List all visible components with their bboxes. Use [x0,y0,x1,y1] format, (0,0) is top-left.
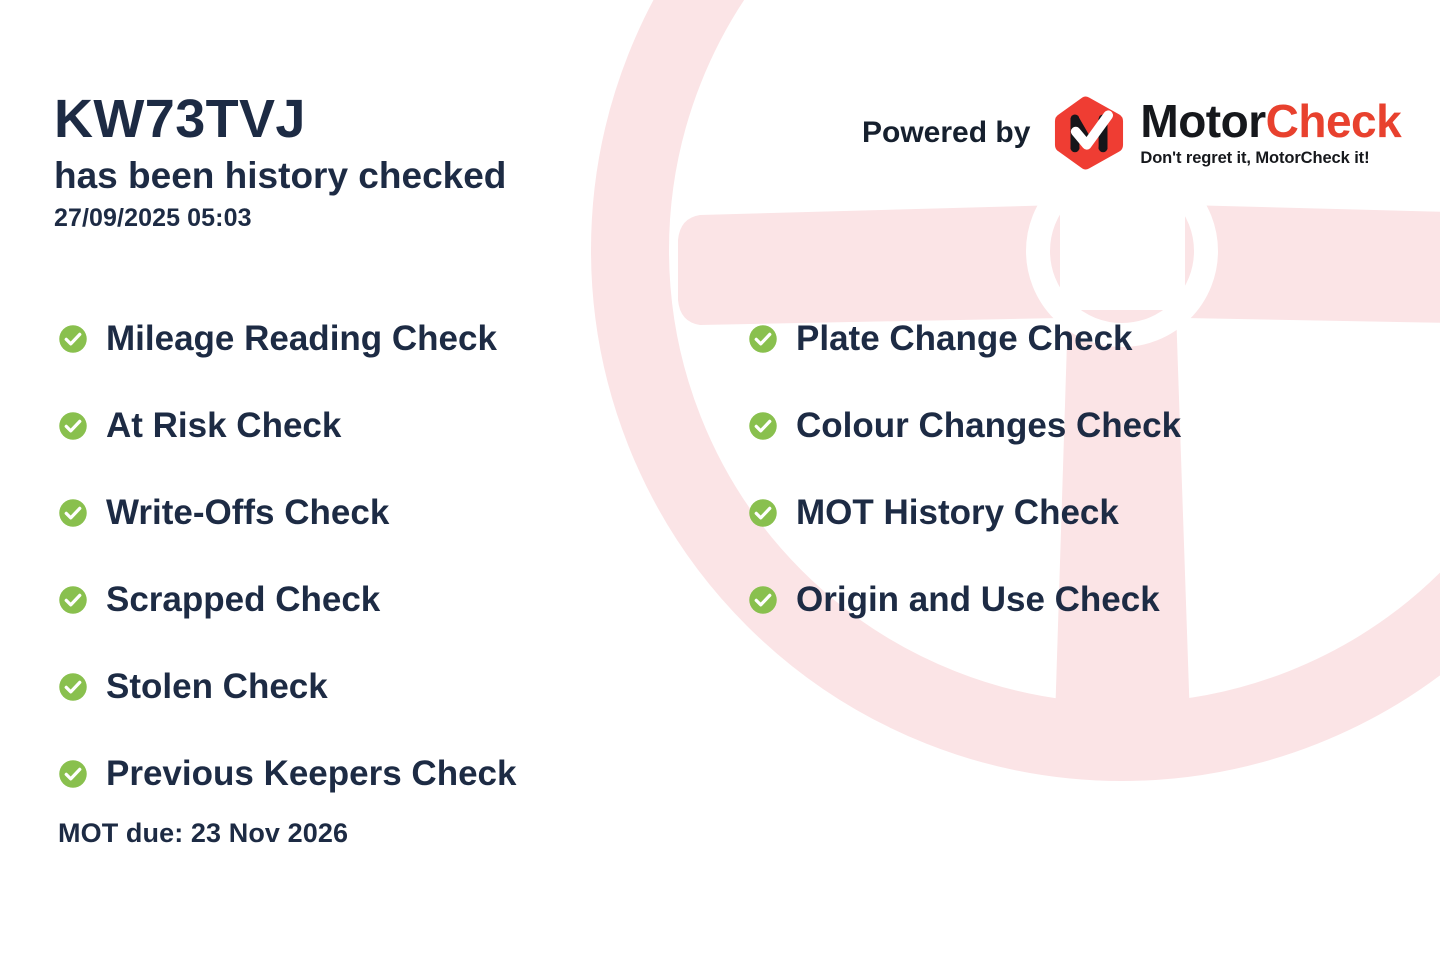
check-item: Previous Keepers Check [58,730,516,817]
check-item-label: MOT History Check [796,495,1119,530]
logo-word-check: Check [1266,95,1402,147]
check-list-right: Plate Change Check Colour Changes Check … [748,295,1181,643]
check-circle-icon [748,324,778,354]
header-block: KW73TVJ has been history checked 27/09/2… [54,92,694,233]
check-circle-icon [58,411,88,441]
check-circle-icon [748,411,778,441]
check-item-label: Stolen Check [106,669,328,704]
check-circle-icon [748,585,778,615]
page-title-registration: KW73TVJ [54,92,694,147]
check-item-label: Write-Offs Check [106,495,389,530]
check-item-label: Mileage Reading Check [106,321,497,356]
check-item-label: Scrapped Check [106,582,380,617]
check-item-label: Colour Changes Check [796,408,1181,443]
logo-tagline: Don't regret it, MotorCheck it! [1140,149,1401,168]
check-item: Origin and Use Check [748,556,1181,643]
check-item: Stolen Check [58,643,516,730]
check-circle-icon [58,585,88,615]
logo-wordmark: MotorCheck [1140,98,1401,144]
mot-due-text: MOT due: 23 Nov 2026 [58,818,348,849]
check-circle-icon [58,759,88,789]
check-circle-icon [58,324,88,354]
check-item: MOT History Check [748,469,1181,556]
check-item: Write-Offs Check [58,469,516,556]
hexagon-logo-icon [1052,96,1126,170]
check-item: Plate Change Check [748,295,1181,382]
check-item-label: Origin and Use Check [796,582,1160,617]
powered-by-label: Powered by [862,116,1030,150]
check-item: Scrapped Check [58,556,516,643]
check-item-label: At Risk Check [106,408,341,443]
check-list-left: Mileage Reading Check At Risk Check Writ… [58,295,516,817]
check-item: Mileage Reading Check [58,295,516,382]
check-item-label: Previous Keepers Check [106,756,516,791]
check-item: At Risk Check [58,382,516,469]
powered-by-block: Powered by MotorCheck Don't regret it, M… [862,96,1401,170]
motorcheck-logo[interactable]: MotorCheck Don't regret it, MotorCheck i… [1052,96,1401,170]
checked-timestamp: 27/09/2025 05:03 [54,204,694,233]
check-item-label: Plate Change Check [796,321,1133,356]
check-circle-icon [748,498,778,528]
check-item: Colour Changes Check [748,382,1181,469]
check-circle-icon [58,672,88,702]
logo-word-motor: Motor [1140,95,1265,147]
page-subtitle: has been history checked [54,153,694,198]
check-circle-icon [58,498,88,528]
